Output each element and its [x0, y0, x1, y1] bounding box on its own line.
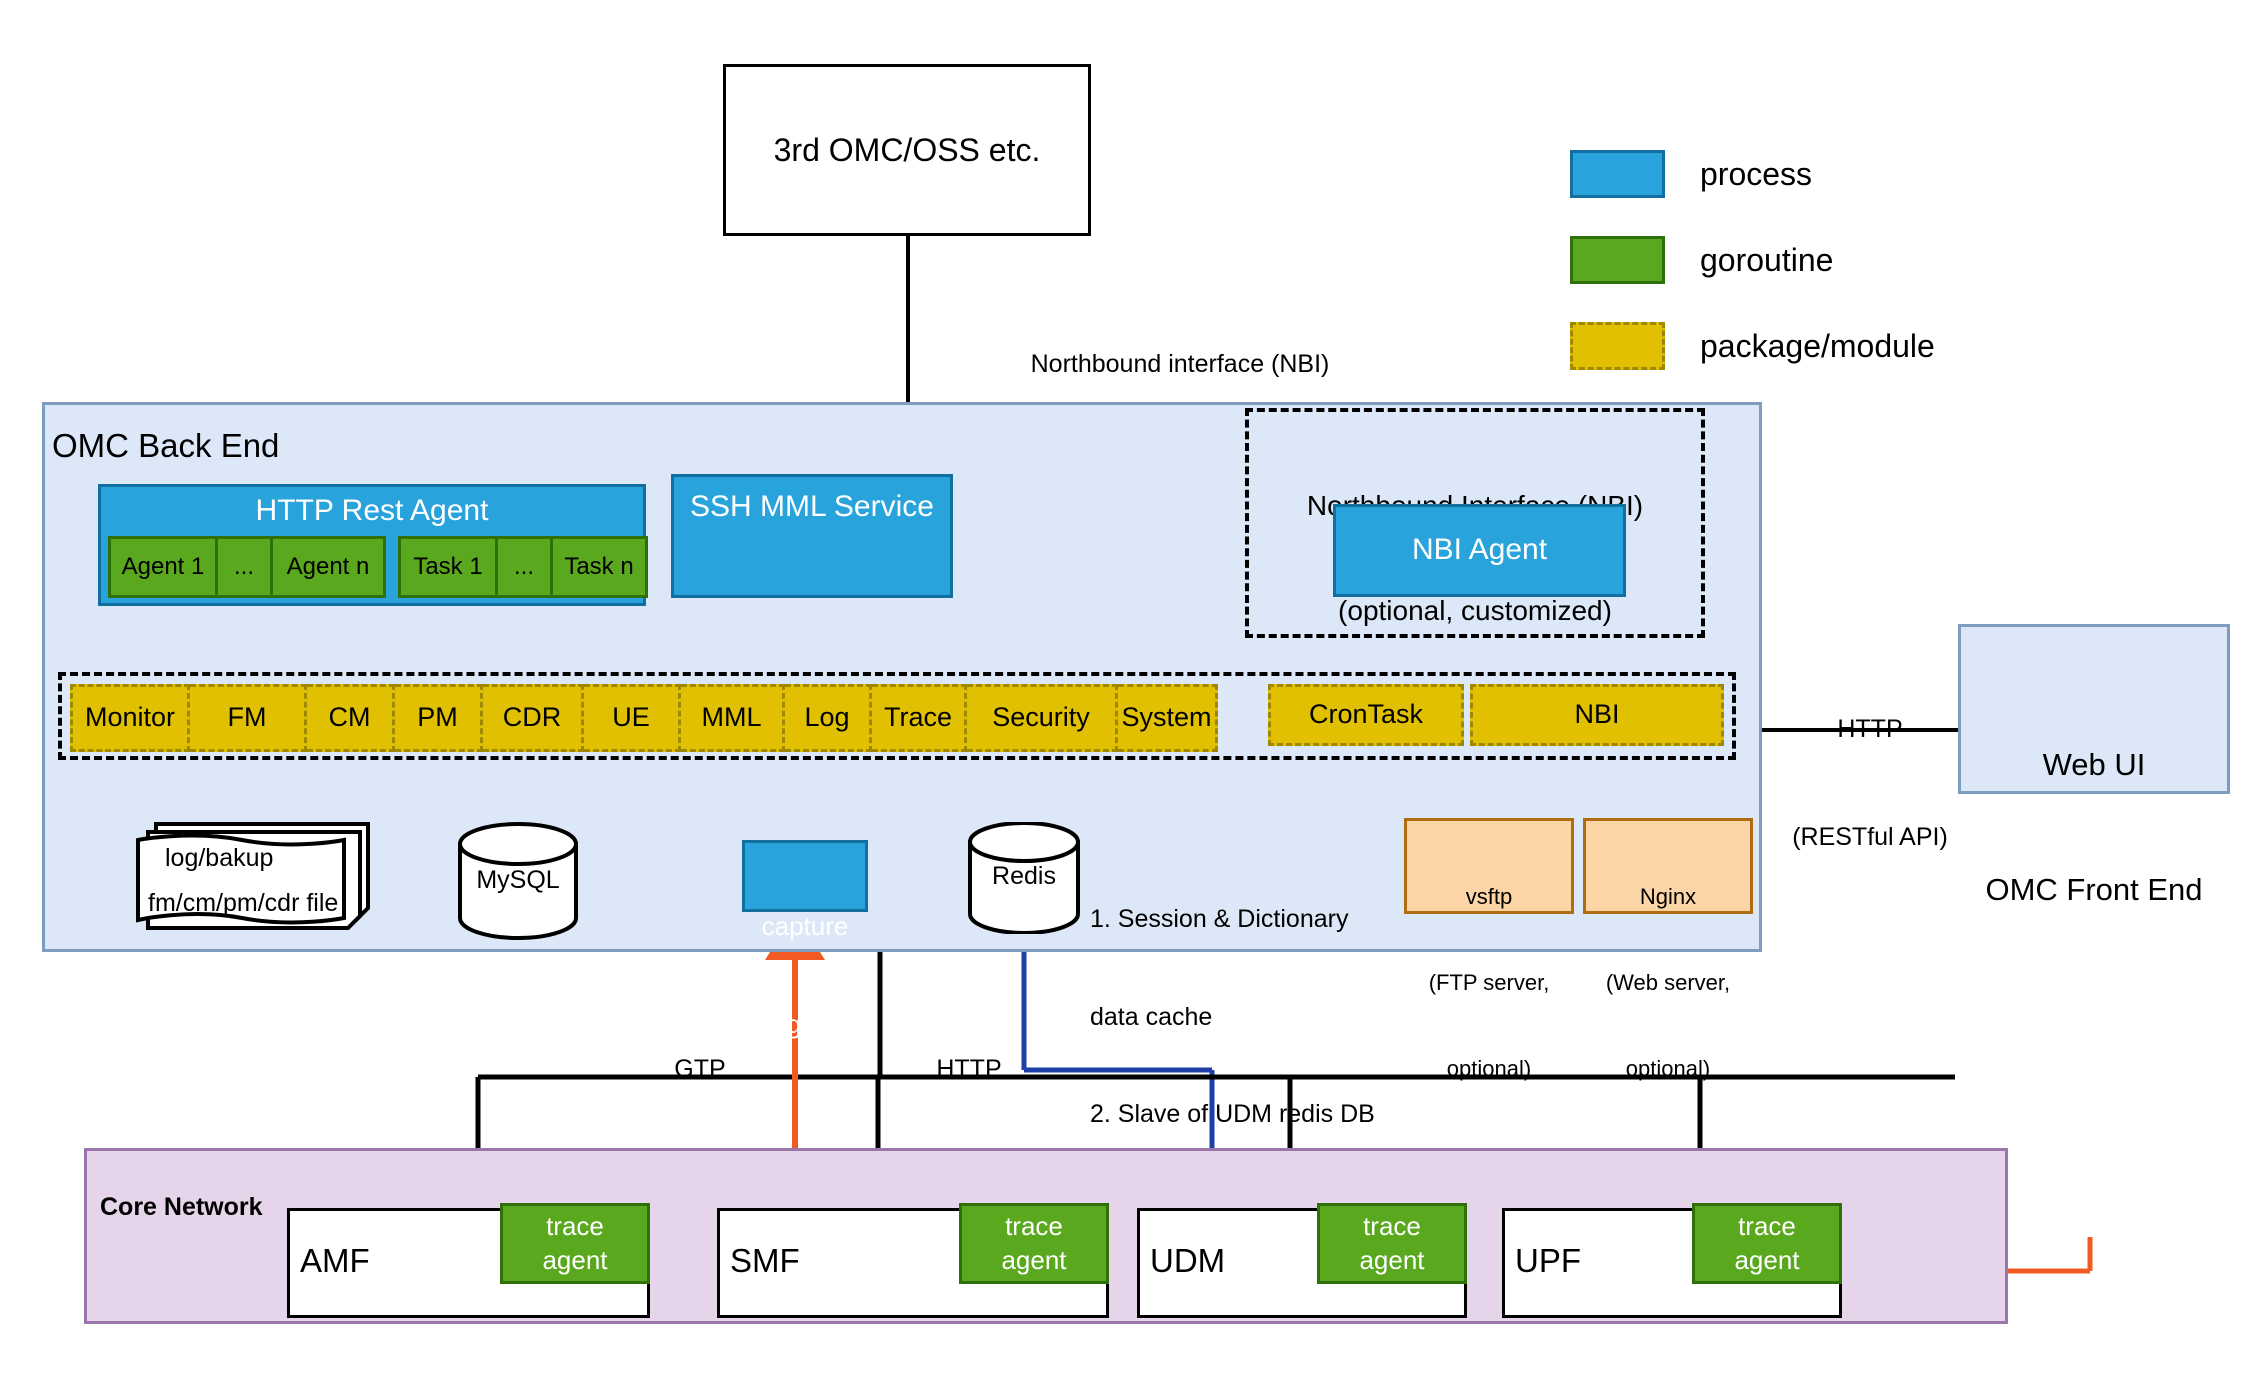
module-fm-label: FM — [228, 702, 267, 733]
trace-agent-udm: trace agent — [1317, 1203, 1467, 1284]
module-system[interactable]: System — [1118, 684, 1218, 752]
task-goroutine-ellipsis: ... — [498, 536, 553, 598]
nginx-name: Nginx — [1583, 883, 1753, 912]
diagram-canvas: 3rd OMC/OSS etc. Northbound interface (N… — [0, 0, 2250, 1395]
gtp-link-line1: GTP — [610, 1053, 790, 1087]
trace-agent-amf-line1: trace — [546, 1211, 604, 1241]
module-ue-label: UE — [612, 702, 650, 733]
legend-label-module: package/module — [1700, 326, 1935, 366]
module-trace[interactable]: Trace — [872, 684, 967, 752]
module-log[interactable]: Log — [785, 684, 872, 752]
frontend-link-label: HTTP (RESTful API) — [1770, 638, 1970, 928]
agent-goroutine-group: Agent 1 ... Agent n — [108, 536, 354, 592]
legend-swatch-process — [1570, 150, 1665, 198]
trace-agent-smf: trace agent — [959, 1203, 1109, 1284]
redis-note-line3: 2. Slave of UDM redis DB — [1090, 1098, 1375, 1131]
trace-agent-udm-line2: agent — [1359, 1245, 1424, 1275]
module-pm[interactable]: PM — [395, 684, 483, 752]
nginx-label: Nginx (Web server, optional) — [1583, 826, 1753, 1141]
vsftp-desc-line1: (FTP server, — [1404, 969, 1574, 998]
agent-goroutine-n: Agent n — [273, 536, 386, 598]
trace-agent-amf-line2: agent — [542, 1245, 607, 1275]
task-goroutine-1-label: Task 1 — [413, 553, 482, 581]
module-mml-label: MML — [702, 702, 762, 733]
vsftp-name: vsftp — [1404, 883, 1574, 912]
nbi-group-title-line2: (optional, customized) — [1245, 593, 1705, 628]
redis-note-line2: data cache — [1090, 1001, 1375, 1034]
mysql-label: MySQL — [455, 866, 581, 896]
external-oss-label: 3rd OMC/OSS etc. — [774, 132, 1041, 169]
task-goroutine-n-label: Task n — [564, 553, 633, 581]
module-pm-label: PM — [417, 702, 458, 733]
module-cm[interactable]: CM — [307, 684, 395, 752]
module-monitor-label: Monitor — [85, 702, 175, 733]
vsftp-desc-line2: optional) — [1404, 1055, 1574, 1084]
agent-goroutine-n-label: Agent n — [287, 553, 370, 581]
web-ui-front-end-label: Web UI OMC Front End — [1958, 660, 2230, 995]
log-backup-line1: log/bakup — [165, 843, 273, 874]
log-backup-line2: fm/cm/pm/cdr file — [148, 888, 338, 919]
module-trace-label: Trace — [884, 702, 952, 733]
trace-agent-upf-line2: agent — [1734, 1245, 1799, 1275]
node-udm-label: UDM — [1150, 1240, 1225, 1281]
module-strip-left: Monitor FM CM PM CDR UE MML Log Trace Se… — [70, 684, 1218, 746]
module-monitor[interactable]: Monitor — [70, 684, 190, 752]
trace-agent-upf-line1: trace — [1738, 1211, 1796, 1241]
legend-swatch-goroutine — [1570, 236, 1665, 284]
log-backup-files-shape — [130, 810, 390, 940]
legend-label-process: process — [1700, 154, 1812, 194]
nginx-desc-line1: (Web server, — [1583, 969, 1753, 998]
frontend-link-line2: (RESTful API) — [1770, 819, 1970, 855]
trace-agent-smf-line2: agent — [1001, 1245, 1066, 1275]
module-crontask-label: CronTask — [1309, 699, 1423, 730]
task-goroutine-group: Task 1 ... Task n — [398, 536, 636, 592]
module-mml[interactable]: MML — [681, 684, 785, 752]
external-oss-box: 3rd OMC/OSS etc. — [723, 64, 1091, 236]
web-ui-title-line1: Web UI — [1958, 744, 2230, 786]
module-crontask[interactable]: CronTask — [1268, 684, 1464, 746]
legend-label-goroutine: goroutine — [1700, 240, 1833, 280]
node-upf-label: UPF — [1515, 1240, 1581, 1281]
agent-goroutine-ellipsis: ... — [218, 536, 273, 598]
node-smf-label: SMF — [730, 1240, 800, 1281]
legend: process goroutine package/module — [1570, 140, 2090, 360]
module-security-label: Security — [992, 702, 1090, 733]
module-nbi[interactable]: NBI — [1470, 684, 1724, 746]
northbound-link-line1: Northbound interface (NBI) — [920, 349, 1440, 380]
module-security[interactable]: Security — [967, 684, 1118, 752]
http-rest-agent-title: HTTP Rest Agent — [98, 490, 646, 532]
ssh-mml-service-label: SSH MML Service — [671, 486, 953, 528]
agent-goroutine-1: Agent 1 — [108, 536, 218, 598]
nginx-desc-line2: optional) — [1583, 1055, 1753, 1084]
agent-goroutine-ellipsis-label: ... — [234, 553, 254, 581]
module-nbi-label: NBI — [1574, 699, 1619, 730]
node-amf-label: AMF — [300, 1240, 370, 1281]
task-goroutine-ellipsis-label: ... — [514, 553, 534, 581]
http-link-line1: HTTP — [876, 1053, 1062, 1087]
web-ui-title-line2: OMC Front End — [1958, 869, 2230, 911]
module-log-label: Log — [804, 702, 849, 733]
redis-note-line1: 1. Session & Dictionary — [1090, 903, 1375, 936]
nbi-agent-box: NBI Agent — [1333, 504, 1626, 597]
agent-goroutine-1-label: Agent 1 — [122, 553, 205, 581]
trace-agent-smf-line1: trace — [1005, 1211, 1063, 1241]
core-network-title: Core Network — [100, 1192, 263, 1223]
northbound-link-label: Northbound interface (NBI) HTTP(RESTful … — [920, 286, 1440, 354]
frontend-link-line1: HTTP — [1770, 711, 1970, 747]
trace-agent-upf: trace agent — [1692, 1203, 1842, 1284]
task-goroutine-1: Task 1 — [398, 536, 498, 598]
module-fm[interactable]: FM — [190, 684, 307, 752]
module-ue[interactable]: UE — [584, 684, 681, 752]
module-cm-label: CM — [329, 702, 371, 733]
omc-back-end-title: OMC Back End — [52, 425, 279, 466]
vsftp-label: vsftp (FTP server, optional) — [1404, 826, 1574, 1141]
task-goroutine-n: Task n — [553, 536, 648, 598]
capture-agent-line1: capture — [742, 910, 868, 943]
redis-note: 1. Session & Dictionary data cache 2. Sl… — [1090, 838, 1375, 1196]
redis-label: Redis — [965, 862, 1083, 892]
module-cdr-label: CDR — [503, 702, 562, 733]
trace-agent-udm-line1: trace — [1363, 1211, 1421, 1241]
module-system-label: System — [1121, 702, 1211, 733]
trace-agent-amf: trace agent — [500, 1203, 650, 1284]
legend-swatch-module — [1570, 322, 1665, 370]
nbi-agent-label: NBI Agent — [1412, 533, 1547, 568]
module-cdr[interactable]: CDR — [483, 684, 584, 752]
